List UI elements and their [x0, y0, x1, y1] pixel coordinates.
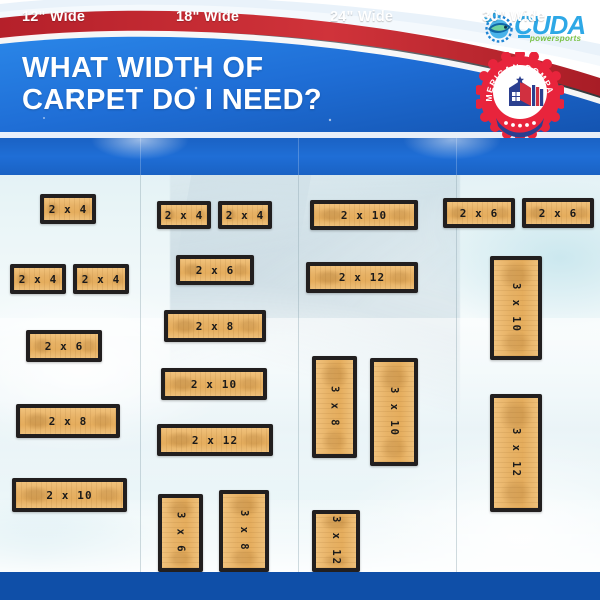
piece-size-label: 2 x 6: [522, 198, 594, 228]
carpet-piece-3x6[interactable]: 3 x 6: [158, 494, 203, 572]
carpet-piece-2x4[interactable]: 2 x 4: [218, 201, 272, 229]
piece-size-label: 3 x 10: [490, 256, 542, 360]
carpet-piece-2x4[interactable]: 2 x 4: [157, 201, 211, 229]
infographic-page: WHAT WIDTH OF CARPET DO I NEED? CUDA pow…: [0, 0, 600, 600]
column-divider-2: [298, 175, 299, 572]
carpet-piece-3x10[interactable]: 3 x 10: [370, 358, 418, 466]
american-company-badge: AMERICAN COMPANY: [476, 52, 564, 140]
piece-size-label: 3 x 10: [370, 358, 418, 466]
column-header-col-24: 24" Wide: [330, 9, 393, 25]
band-sheen: [0, 138, 600, 175]
column-header-band: [0, 138, 600, 175]
carpet-piece-3x8[interactable]: 3 x 8: [219, 490, 269, 572]
carpet-piece-2x12[interactable]: 2 x 12: [157, 424, 273, 456]
piece-size-label: 2 x 12: [157, 424, 273, 456]
piece-size-label: 2 x 4: [73, 264, 129, 294]
carpet-piece-3x8[interactable]: 3 x 8: [312, 356, 357, 458]
piece-size-label: 2 x 6: [176, 255, 254, 285]
carpet-piece-3x12[interactable]: 3 x 12: [490, 394, 542, 512]
column-divider-3: [456, 175, 457, 572]
piece-size-label: 2 x 6: [26, 330, 102, 362]
page-title-line-2: CARPET DO I NEED?: [22, 84, 452, 116]
carpet-piece-2x6[interactable]: 2 x 6: [522, 198, 594, 228]
band-separator-1: [140, 138, 141, 175]
piece-size-label: 2 x 12: [306, 262, 418, 293]
piece-size-label: 2 x 8: [164, 310, 266, 342]
piece-size-label: 3 x 12: [312, 510, 360, 572]
piece-size-label: 2 x 10: [161, 368, 267, 400]
carpet-piece-2x6[interactable]: 2 x 6: [176, 255, 254, 285]
piece-size-label: 3 x 12: [490, 394, 542, 512]
carpet-piece-2x12[interactable]: 2 x 12: [306, 262, 418, 293]
carpet-piece-2x10[interactable]: 2 x 10: [310, 200, 418, 230]
column-header-col-12: 12" Wide: [22, 9, 85, 25]
band-separator-3: [456, 138, 457, 175]
piece-size-label: 2 x 4: [40, 194, 96, 224]
cuda-underline: [518, 35, 530, 38]
band-separator-2: [298, 138, 299, 175]
carpet-piece-2x6[interactable]: 2 x 6: [26, 330, 102, 362]
column-header-col-18: 18" Wide: [176, 9, 239, 25]
carpet-piece-2x4[interactable]: 2 x 4: [73, 264, 129, 294]
page-title-line-1: WHAT WIDTH OF: [22, 52, 263, 84]
carpet-piece-3x12[interactable]: 3 x 12: [312, 510, 360, 572]
piece-size-label: 3 x 8: [312, 356, 357, 458]
column-header-col-30: 30" Wide: [482, 9, 545, 25]
cuda-tagline: powersports: [530, 34, 581, 43]
carpet-piece-2x10[interactable]: 2 x 10: [12, 478, 127, 512]
carpet-piece-3x10[interactable]: 3 x 10: [490, 256, 542, 360]
piece-size-label: 2 x 8: [16, 404, 120, 438]
piece-size-label: 2 x 10: [12, 478, 127, 512]
carpet-piece-2x4[interactable]: 2 x 4: [40, 194, 96, 224]
piece-size-label: 3 x 8: [219, 490, 269, 572]
carpet-piece-2x8[interactable]: 2 x 8: [16, 404, 120, 438]
page-title: WHAT WIDTH OF CARPET DO I NEED?: [22, 52, 452, 116]
carpet-piece-2x10[interactable]: 2 x 10: [161, 368, 267, 400]
piece-size-label: 2 x 4: [218, 201, 272, 229]
piece-size-label: 2 x 4: [10, 264, 66, 294]
carpet-piece-2x6[interactable]: 2 x 6: [443, 198, 515, 228]
piece-size-label: 2 x 4: [157, 201, 211, 229]
piece-size-label: 2 x 10: [310, 200, 418, 230]
piece-size-label: 2 x 6: [443, 198, 515, 228]
bottom-accent-bar: [0, 572, 600, 600]
column-divider-1: [140, 175, 141, 572]
carpet-piece-2x8[interactable]: 2 x 8: [164, 310, 266, 342]
carpet-piece-2x4[interactable]: 2 x 4: [10, 264, 66, 294]
piece-size-label: 3 x 6: [158, 494, 203, 572]
